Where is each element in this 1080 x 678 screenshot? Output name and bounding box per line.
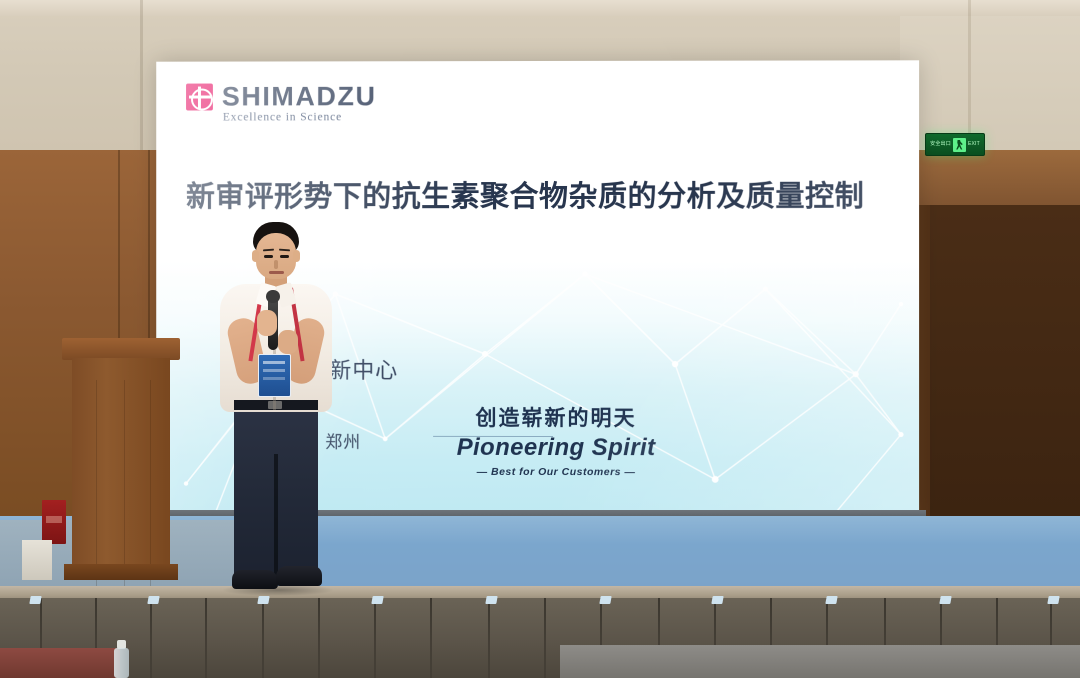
podium-top xyxy=(62,338,180,360)
podium-base xyxy=(64,564,178,580)
slogan-chinese: 创造崭新的明天 xyxy=(441,406,671,431)
foreground-floor xyxy=(560,645,1080,678)
wood-wall-right-dark xyxy=(930,205,1080,535)
presenter-shoe-right xyxy=(276,566,322,586)
exit-sign-label-cn: 安全出口 xyxy=(930,142,951,147)
presenter-mouth xyxy=(269,271,284,274)
slide-slogan-block: 创造崭新的明天 Pioneering Spirit — Best for Our… xyxy=(441,406,671,478)
wall-seam xyxy=(140,0,143,152)
brand-tagline: Excellence in Science xyxy=(223,111,377,123)
trouser-leg-split xyxy=(274,454,278,580)
presenter-nose xyxy=(274,260,278,269)
slogan-subtitle: — Best for Our Customers — xyxy=(441,465,671,477)
podium-body xyxy=(72,358,170,566)
presenter xyxy=(210,222,340,590)
presenter-eye-right xyxy=(280,255,289,258)
presenter-eye-left xyxy=(264,255,273,258)
presenter-hand-right xyxy=(278,330,298,354)
slogan-divider xyxy=(433,436,553,437)
exit-sign-label-en: EXIT xyxy=(968,142,980,147)
logo-row: SHIMADZU xyxy=(186,83,376,110)
white-box-prop xyxy=(22,540,52,580)
bottle-body xyxy=(114,648,129,678)
slogan-english: Pioneering Spirit xyxy=(441,435,671,462)
presenter-ear-left xyxy=(252,250,259,262)
conference-badge xyxy=(258,354,291,397)
slide-title: 新审评形势下的抗生素聚合物杂质的分析及质量控制 xyxy=(186,178,886,215)
wall-seam-right xyxy=(968,0,971,150)
presenter-shoe-left xyxy=(232,570,278,589)
foreground-table xyxy=(0,648,120,678)
shimadzu-logo-icon xyxy=(186,84,213,111)
conference-photo-scene: 安全出口 EXIT xyxy=(0,0,1080,678)
shimadzu-brand-lockup: SHIMADZU Excellence in Science xyxy=(186,83,376,123)
water-bottle xyxy=(113,640,130,678)
wooden-podium xyxy=(66,338,176,586)
presenter-ear-right xyxy=(293,250,300,262)
wood-wall-right-top xyxy=(900,150,1080,210)
emergency-exit-sign: 安全出口 EXIT xyxy=(925,133,985,156)
logo-cross-vertical xyxy=(198,86,200,108)
presenter-hand-left xyxy=(257,310,277,336)
brand-wordmark: SHIMADZU xyxy=(222,83,377,110)
presenter-belt xyxy=(234,400,318,410)
running-man-icon xyxy=(953,138,966,152)
red-sign xyxy=(42,500,66,544)
ceiling-seam xyxy=(0,0,1080,16)
